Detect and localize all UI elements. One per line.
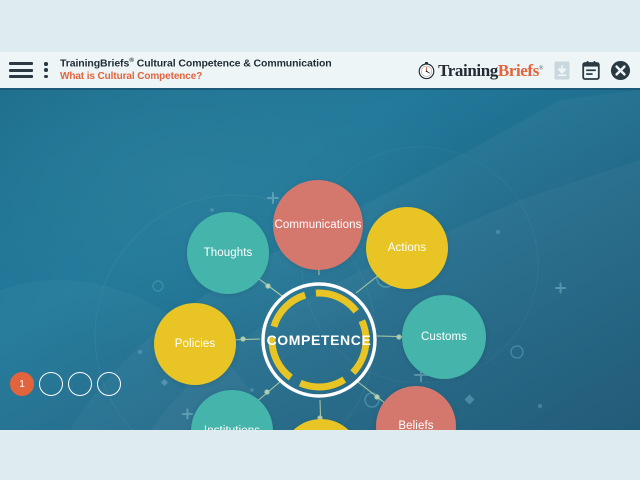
page-dot-4[interactable] <box>97 372 121 396</box>
bubble-communications[interactable]: Communications <box>273 180 363 270</box>
kebab-dot <box>44 68 48 72</box>
download-icon[interactable] <box>552 60 572 81</box>
logo-registered-mark: ® <box>539 65 543 71</box>
player-window: TrainingBriefs® Cultural Competence & Co… <box>0 0 640 480</box>
stopwatch-icon <box>417 61 436 80</box>
bubble-thoughts[interactable]: Thoughts <box>187 212 269 294</box>
hub-label: COMPETENCE <box>267 332 372 348</box>
page-dot-2[interactable] <box>39 372 63 396</box>
header-titles: TrainingBriefs® Cultural Competence & Co… <box>60 57 332 82</box>
hamburger-bar <box>9 69 33 72</box>
logo-word-briefs: Briefs <box>498 61 539 80</box>
bubble-customs[interactable]: Customs <box>402 295 486 379</box>
hamburger-bar <box>9 75 33 78</box>
bubble-label: Policies <box>175 338 215 350</box>
hamburger-icon[interactable] <box>9 62 33 78</box>
kebab-dot <box>44 62 48 66</box>
logo-wordmark: TrainingBriefs® <box>438 62 543 79</box>
bubble-label: Beliefs <box>398 420 433 430</box>
competence-hub[interactable]: COMPETENCE <box>258 279 380 401</box>
header-actions: TrainingBriefs® <box>417 60 631 81</box>
bubble-label: Customs <box>421 331 467 343</box>
page-dot-1[interactable]: 1 <box>10 372 34 396</box>
page-dot-label: 1 <box>19 379 25 390</box>
logo-word-training: Training <box>438 61 498 80</box>
trainingbriefs-logo: TrainingBriefs® <box>417 61 543 80</box>
close-icon[interactable] <box>610 60 631 81</box>
bubble-label: Institutions <box>204 425 260 430</box>
slide-canvas: Communications Actions Customs Beliefs V… <box>0 90 640 430</box>
more-vertical-icon[interactable] <box>40 62 52 78</box>
bubble-actions[interactable]: Actions <box>366 207 448 289</box>
bubble-label: Communications <box>274 219 361 231</box>
bubble-label: Actions <box>388 242 426 254</box>
page-title-rest: Cultural Competence & Communication <box>134 58 332 70</box>
page-dot-3[interactable] <box>68 372 92 396</box>
bubble-label: Thoughts <box>204 247 253 259</box>
page-title-brand: TrainingBriefs <box>60 58 129 70</box>
kebab-dot <box>44 75 48 79</box>
page-title: TrainingBriefs® Cultural Competence & Co… <box>60 57 332 70</box>
breadcrumb[interactable]: What is Cultural Competence? <box>60 71 332 83</box>
bubble-policies[interactable]: Policies <box>154 303 236 385</box>
notes-icon[interactable] <box>581 60 601 81</box>
slide-pagination: 1 <box>10 372 121 396</box>
hamburger-bar <box>9 62 33 65</box>
player-header: TrainingBriefs® Cultural Competence & Co… <box>0 52 640 90</box>
